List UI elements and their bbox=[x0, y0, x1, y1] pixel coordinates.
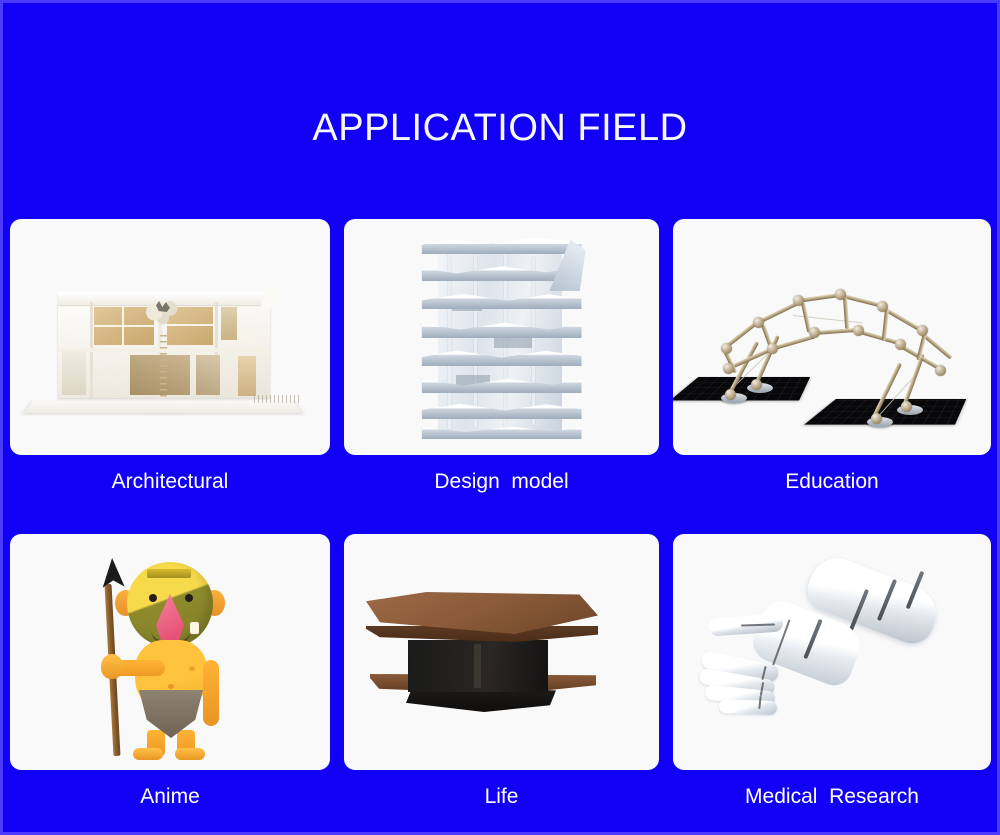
card-anime[interactable]: Anime bbox=[10, 534, 330, 808]
card-image-architectural[interactable] bbox=[10, 219, 330, 455]
navel bbox=[168, 684, 174, 689]
hand-left bbox=[101, 654, 123, 679]
card-image-education[interactable] bbox=[673, 219, 991, 455]
cartoon-caveman-figurine-photo bbox=[10, 534, 330, 770]
card-label-medical-research: Medical Research bbox=[673, 785, 991, 808]
card-life[interactable]: Life bbox=[344, 534, 659, 808]
eye-left bbox=[149, 594, 157, 602]
truss-node bbox=[871, 413, 882, 424]
truss-node bbox=[753, 317, 764, 328]
truss-node bbox=[793, 295, 804, 306]
foot-right bbox=[175, 748, 205, 760]
tower-model bbox=[422, 235, 582, 440]
card-label-architectural: Architectural bbox=[10, 470, 330, 493]
truss-node bbox=[935, 365, 946, 376]
card-row-1: Architectural bbox=[3, 219, 997, 519]
truss-node bbox=[809, 327, 820, 338]
truss-node bbox=[877, 301, 888, 312]
coffee-table bbox=[362, 592, 602, 714]
caveman-figure bbox=[85, 544, 255, 760]
card-label-design-model: Design model bbox=[344, 470, 659, 493]
card-image-design-model[interactable] bbox=[344, 219, 659, 455]
card-row-2: Anime Life bbox=[3, 534, 997, 834]
card-label-anime: Anime bbox=[10, 785, 330, 808]
prosthetic-hand bbox=[679, 554, 959, 744]
card-architectural[interactable]: Architectural bbox=[10, 219, 330, 493]
application-field-poster: APPLICATION FIELD bbox=[0, 0, 1000, 835]
cabinet-divider bbox=[474, 644, 481, 688]
truss-diagonal bbox=[843, 297, 849, 329]
torso-detail bbox=[189, 666, 195, 671]
tooth bbox=[190, 622, 199, 634]
wooden-coffee-table-photo bbox=[344, 534, 659, 770]
truss-node bbox=[835, 289, 846, 300]
truss-node bbox=[725, 389, 736, 400]
truss-node bbox=[853, 325, 864, 336]
architectural-house-model-photo bbox=[10, 219, 330, 455]
page-title: APPLICATION FIELD bbox=[3, 109, 997, 147]
entry-door bbox=[238, 356, 256, 396]
finger-pinky bbox=[719, 699, 777, 715]
model-tree bbox=[140, 297, 188, 327]
card-image-life[interactable] bbox=[344, 534, 659, 770]
upper-side-room bbox=[221, 307, 237, 340]
base-edge-detail bbox=[254, 395, 302, 403]
card-image-medical-research[interactable] bbox=[673, 534, 991, 770]
truss-node bbox=[901, 401, 912, 412]
truss-node bbox=[723, 363, 734, 374]
headband bbox=[147, 569, 191, 578]
eye-right bbox=[185, 594, 193, 602]
truss-node bbox=[917, 325, 928, 336]
card-image-anime[interactable] bbox=[10, 534, 330, 770]
card-medical-research[interactable]: Medical Research bbox=[673, 534, 991, 808]
layered-parametric-tower-model-photo bbox=[344, 219, 659, 455]
lower-side-room bbox=[196, 355, 220, 395]
card-label-life: Life bbox=[344, 785, 659, 808]
prosthetic-robotic-hand-photo bbox=[673, 534, 991, 770]
arm-right bbox=[203, 660, 219, 726]
truss-node bbox=[751, 379, 762, 390]
tower-floor-slab bbox=[422, 237, 582, 254]
truss-node bbox=[767, 343, 778, 354]
card-education[interactable]: Education bbox=[673, 219, 991, 493]
truss-arch-bridge-model-photo bbox=[673, 219, 991, 455]
card-design-model[interactable]: Design model bbox=[344, 219, 659, 493]
truss-node bbox=[895, 339, 906, 350]
foot-left bbox=[133, 748, 163, 760]
lower-left-room bbox=[62, 351, 86, 395]
truss-diagonal bbox=[882, 309, 889, 341]
tower-column bbox=[532, 257, 535, 425]
card-label-education: Education bbox=[673, 470, 991, 493]
truss-node bbox=[721, 343, 732, 354]
staircase bbox=[160, 335, 167, 397]
